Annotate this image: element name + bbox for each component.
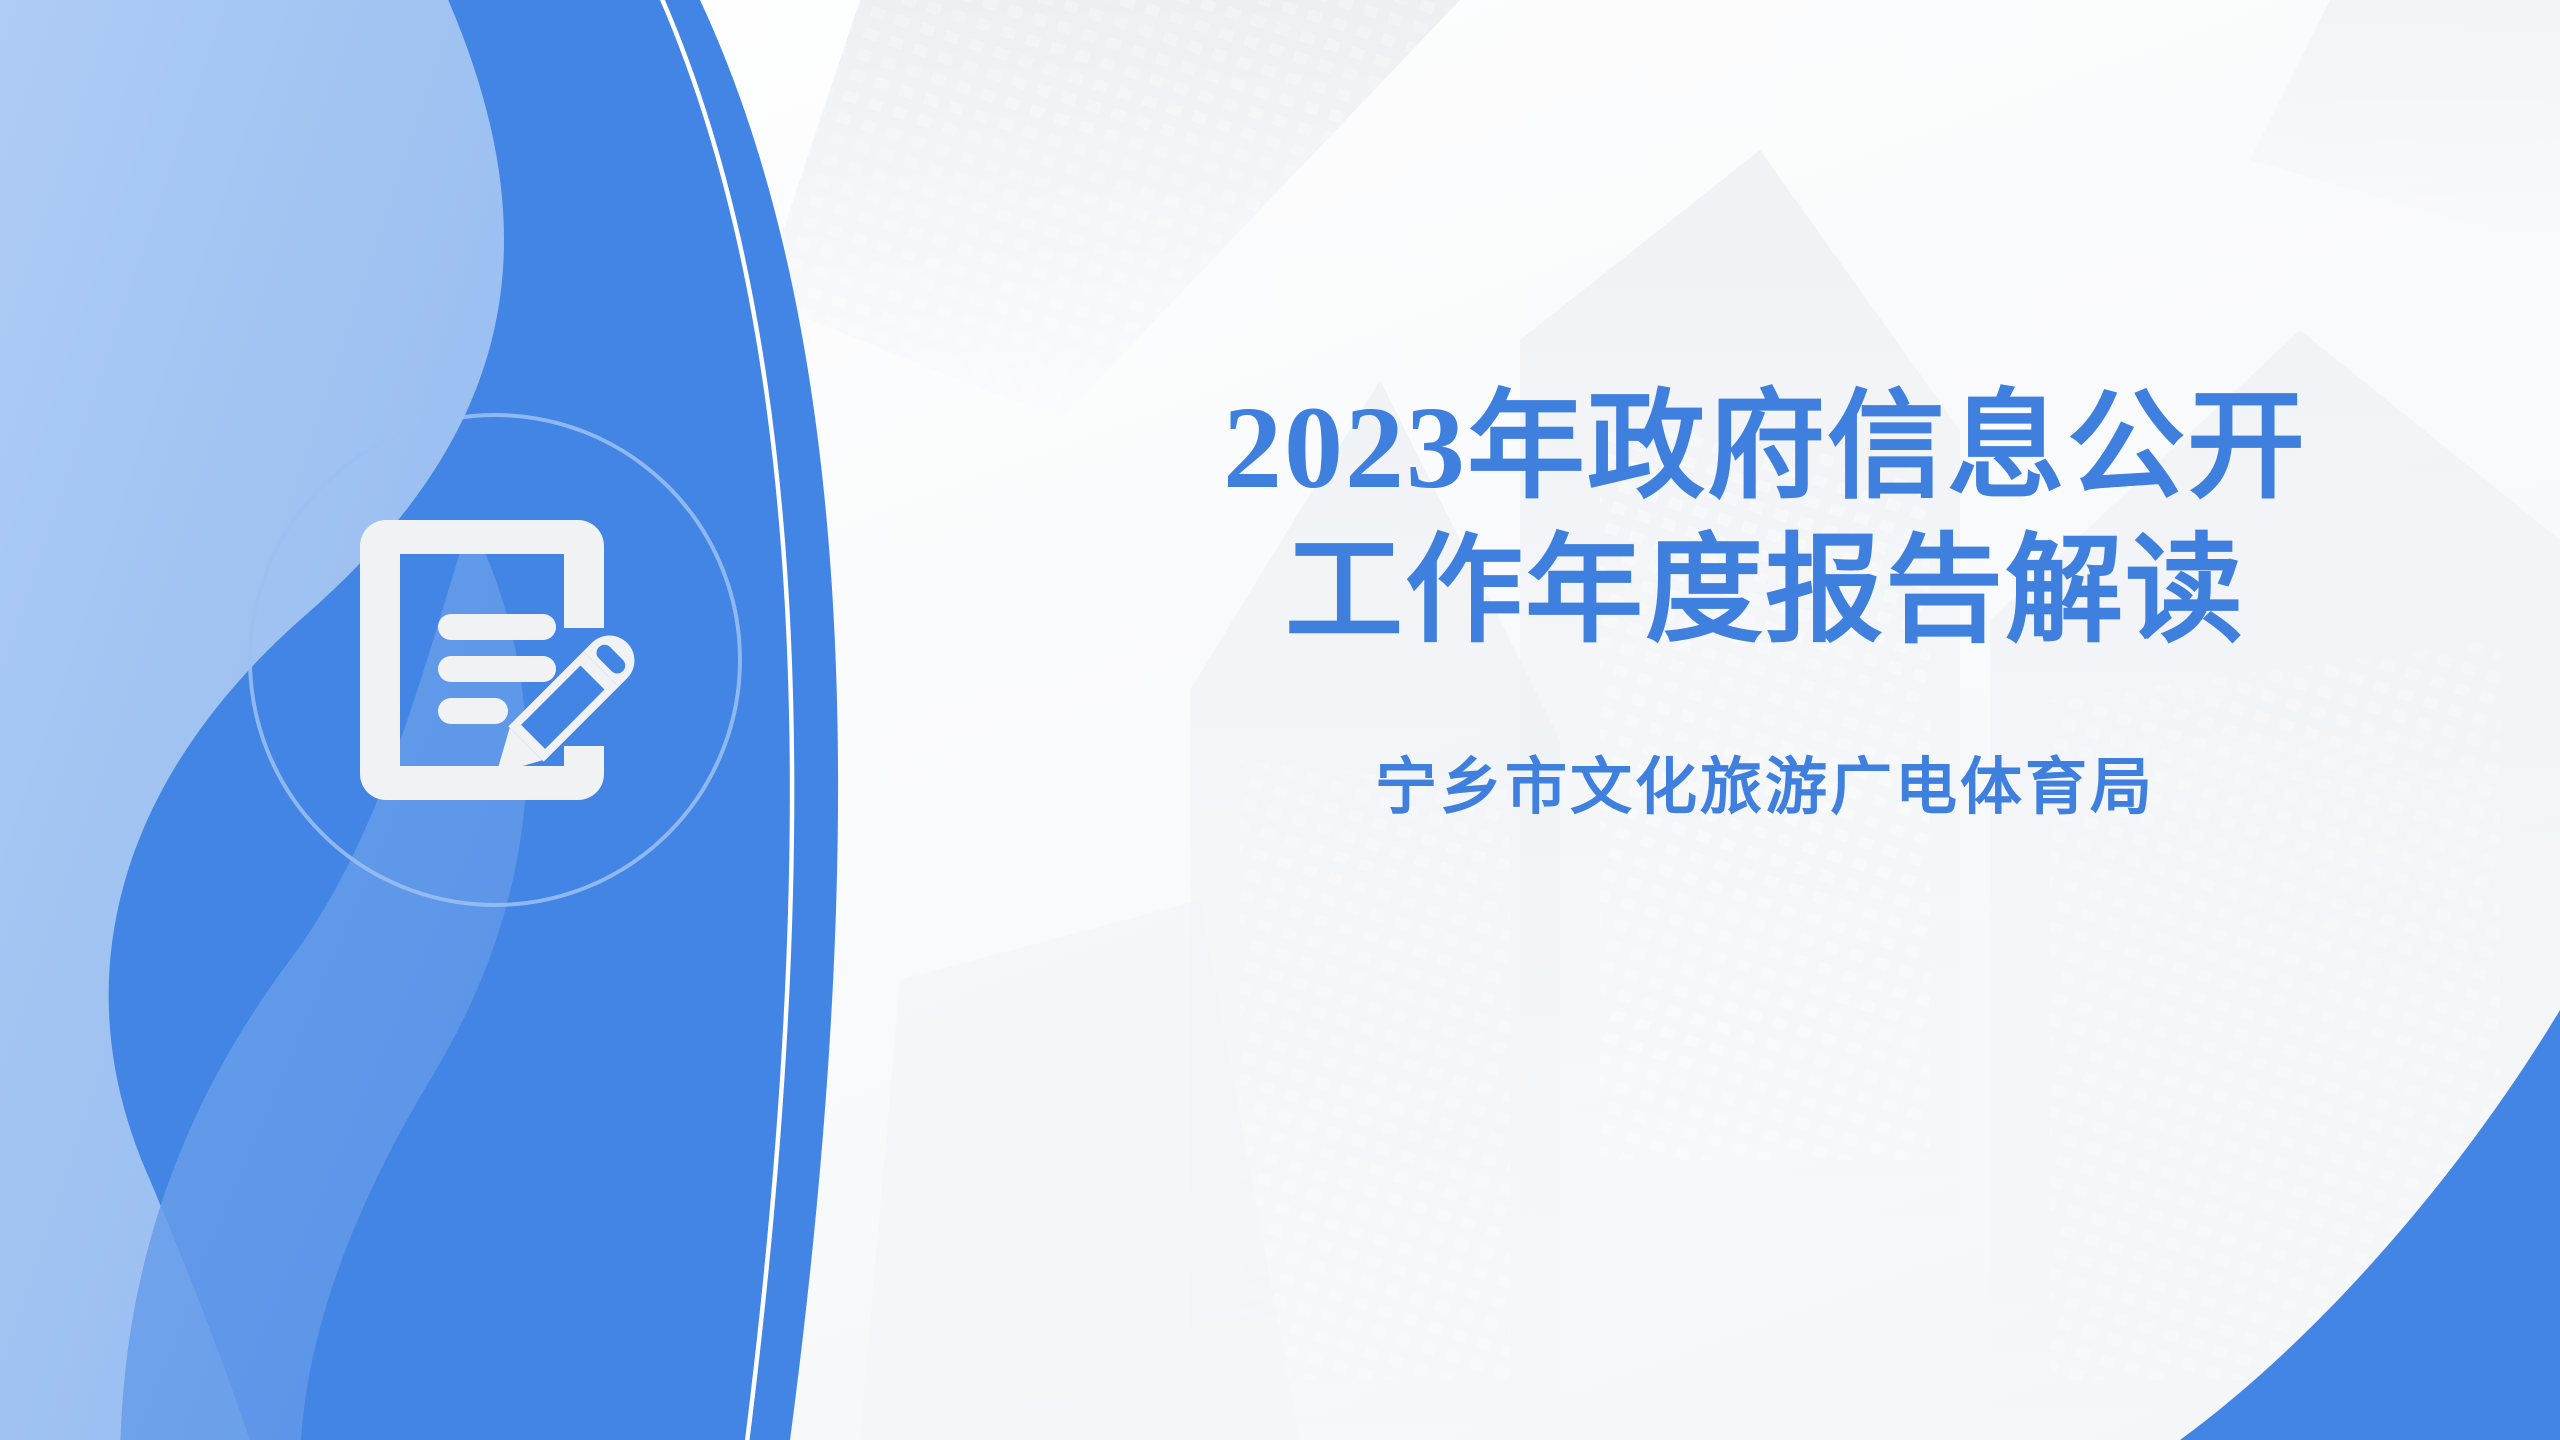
title-line-1: 2023年政府信息公开	[1130, 376, 2400, 520]
organization-subtitle: 宁乡市文化旅游广电体育局	[1130, 736, 2400, 826]
doc-line-2	[438, 656, 556, 682]
document-edit-icon	[350, 510, 640, 810]
doc-line-3	[438, 698, 508, 724]
slide-canvas: 2023年政府信息公开 工作年度报告解读 宁乡市文化旅游广电体育局	[0, 0, 2560, 1440]
doc-line-1	[438, 614, 556, 640]
title-group: 2023年政府信息公开 工作年度报告解读 宁乡市文化旅游广电体育局	[1130, 376, 2400, 826]
bottom-right-corner-accent	[2140, 1010, 2560, 1440]
title-line-2: 工作年度报告解读	[1130, 520, 2400, 664]
building-shape-e	[2250, 0, 2560, 250]
